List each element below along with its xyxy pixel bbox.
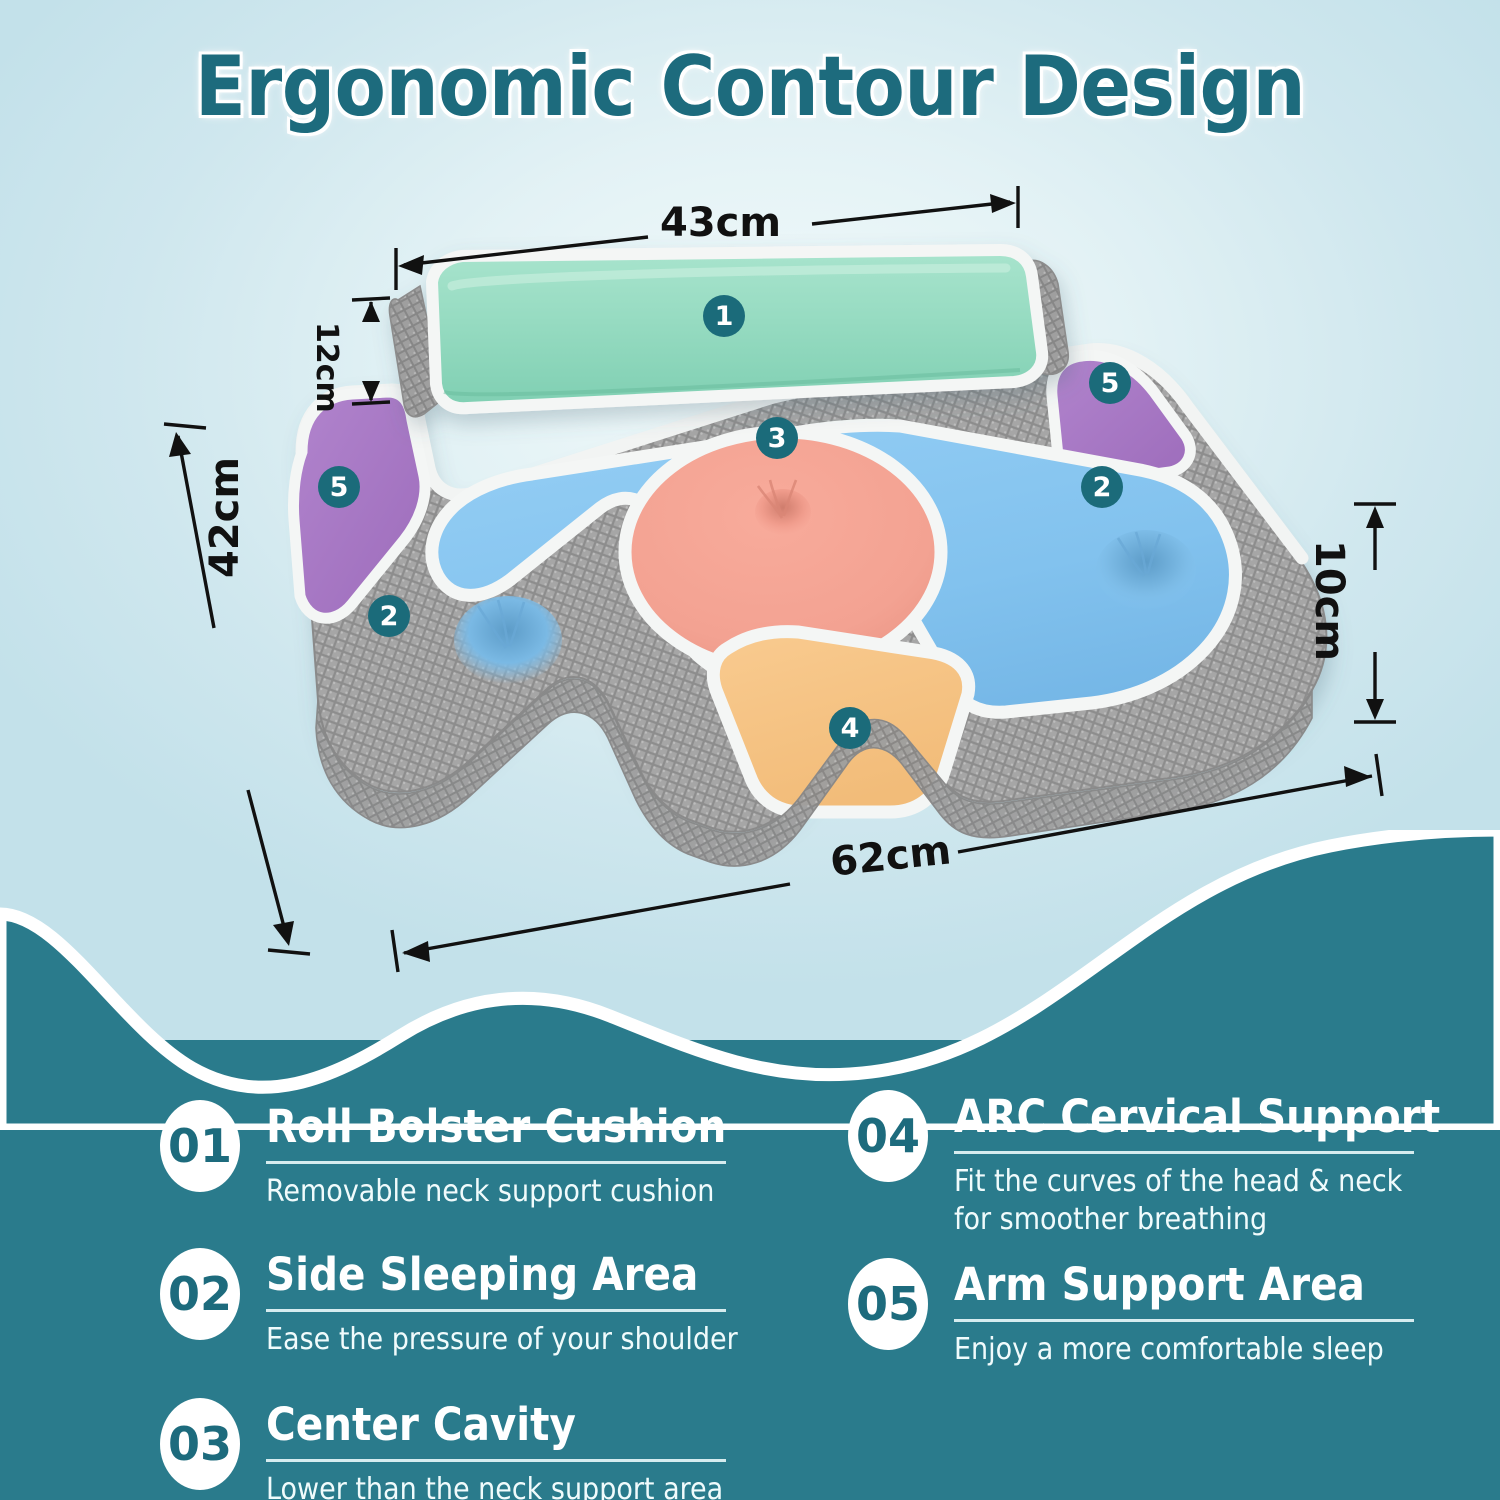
feature-desc-line: Enjoy a more comfortable sleep bbox=[954, 1331, 1414, 1369]
svg-text:4: 4 bbox=[841, 713, 860, 744]
feature-item-05[interactable]: 05 Arm Support Area Enjoy a more comfort… bbox=[848, 1258, 1414, 1369]
feature-text-02: Side Sleeping Area Ease the pressure of … bbox=[266, 1248, 738, 1359]
callout-2-right: 2 bbox=[1081, 466, 1123, 508]
feature-desc-line: Lower than the neck support area bbox=[266, 1471, 726, 1500]
feature-number-badge-03: 03 bbox=[160, 1398, 240, 1490]
callout-1: 1 bbox=[703, 295, 745, 337]
svg-text:5: 5 bbox=[1101, 368, 1120, 399]
feature-rule-05 bbox=[954, 1319, 1414, 1322]
dimension-label-height-right: 10cm bbox=[1306, 540, 1352, 661]
svg-text:5: 5 bbox=[330, 472, 349, 503]
feature-desc-line: Ease the pressure of your shoulder bbox=[266, 1321, 738, 1359]
callout-3: 3 bbox=[756, 417, 798, 459]
dimension-label-depth-left: 42cm bbox=[202, 457, 248, 578]
feature-desc-line: Removable neck support cushion bbox=[266, 1173, 726, 1211]
feature-item-02[interactable]: 02 Side Sleeping Area Ease the pressure … bbox=[160, 1248, 738, 1359]
feature-title-03: Center Cavity bbox=[266, 1402, 726, 1449]
feature-text-03: Center Cavity Lower than the neck suppor… bbox=[266, 1398, 726, 1500]
feature-number-badge-01: 01 bbox=[160, 1100, 240, 1192]
feature-rule-01 bbox=[266, 1161, 726, 1164]
feature-desc-line: Fit the curves of the head & neck bbox=[954, 1163, 1440, 1201]
svg-text:2: 2 bbox=[1093, 472, 1112, 503]
feature-list: 01 Roll Bolster Cushion Removable neck s… bbox=[0, 1082, 1500, 1500]
infographic-canvas: 1 5 5 2 2 3 4 bbox=[0, 0, 1500, 1500]
dimension-label-bolster-height: 12cm bbox=[309, 322, 344, 413]
feature-text-05: Arm Support Area Enjoy a more comfortabl… bbox=[954, 1258, 1414, 1369]
callout-4: 4 bbox=[829, 707, 871, 749]
feature-title-04: ARC Cervical Support bbox=[954, 1094, 1440, 1141]
feature-number-badge-02: 02 bbox=[160, 1248, 240, 1340]
feature-desc-01: Removable neck support cushion bbox=[266, 1173, 726, 1211]
feature-number-badge-05: 05 bbox=[848, 1258, 928, 1350]
feature-item-04[interactable]: 04 ARC Cervical Support Fit the curves o… bbox=[848, 1090, 1440, 1240]
page-title: Ergonomic Contour Design bbox=[0, 38, 1500, 135]
feature-rule-02 bbox=[266, 1309, 726, 1312]
feature-rule-04 bbox=[954, 1151, 1414, 1154]
feature-title-01: Roll Bolster Cushion bbox=[266, 1104, 726, 1151]
feature-item-03[interactable]: 03 Center Cavity Lower than the neck sup… bbox=[160, 1398, 726, 1500]
feature-desc-03: Lower than the neck support area to reli… bbox=[266, 1471, 726, 1500]
callout-5-left: 5 bbox=[318, 466, 360, 508]
feature-item-01[interactable]: 01 Roll Bolster Cushion Removable neck s… bbox=[160, 1100, 726, 1211]
feature-desc-05: Enjoy a more comfortable sleep bbox=[954, 1331, 1414, 1369]
feature-desc-line: for smoother breathing bbox=[954, 1201, 1440, 1239]
feature-number-badge-04: 04 bbox=[848, 1090, 928, 1182]
dimension-label-width-top: 43cm bbox=[660, 200, 781, 246]
svg-text:2: 2 bbox=[380, 601, 399, 632]
svg-text:3: 3 bbox=[768, 423, 787, 454]
svg-text:1: 1 bbox=[715, 301, 734, 332]
feature-rule-03 bbox=[266, 1459, 726, 1462]
feature-title-05: Arm Support Area bbox=[954, 1262, 1414, 1309]
callout-5-right: 5 bbox=[1089, 362, 1131, 404]
feature-text-01: Roll Bolster Cushion Removable neck supp… bbox=[266, 1100, 726, 1211]
feature-title-02: Side Sleeping Area bbox=[266, 1252, 738, 1299]
feature-desc-04: Fit the curves of the head & neck for sm… bbox=[954, 1163, 1440, 1240]
callout-2-left: 2 bbox=[368, 595, 410, 637]
feature-desc-02: Ease the pressure of your shoulder bbox=[266, 1321, 738, 1359]
feature-text-04: ARC Cervical Support Fit the curves of t… bbox=[954, 1090, 1440, 1240]
